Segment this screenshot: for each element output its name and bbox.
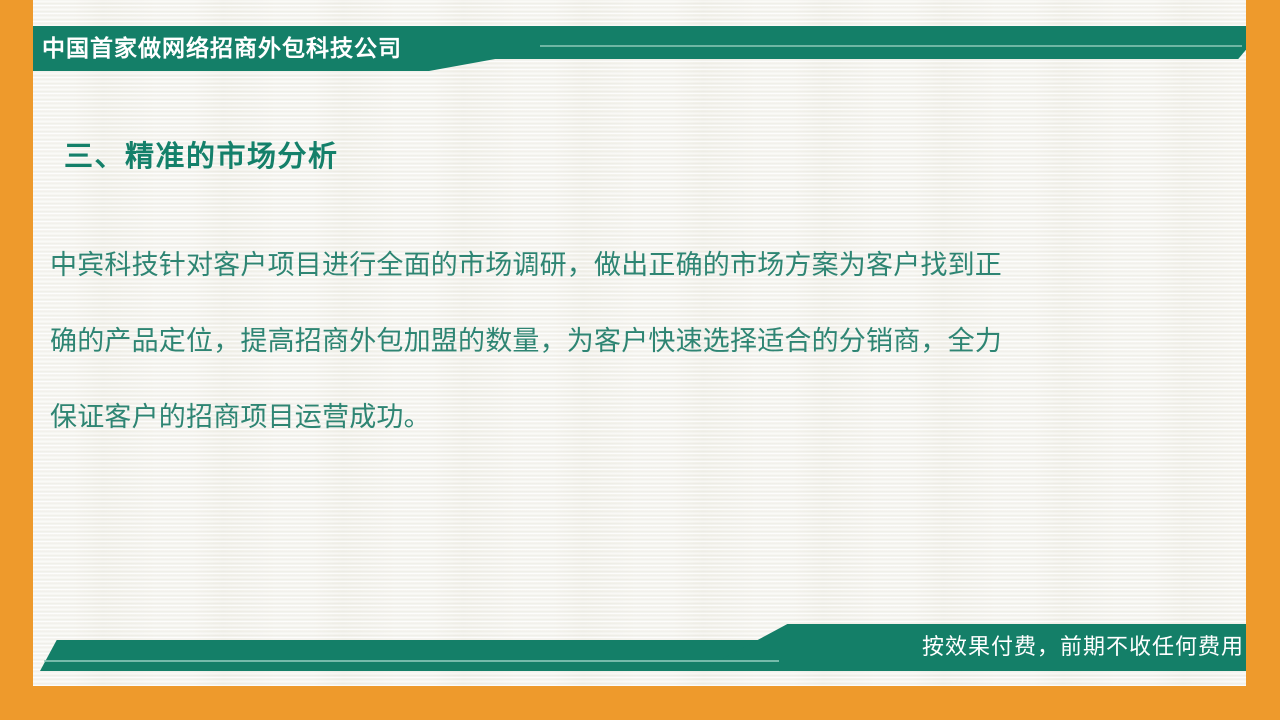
paragraph-line: 保证客户的招商项目运营成功。	[50, 380, 1186, 456]
body-paragraph: 中宾科技针对客户项目进行全面的市场调研，做出正确的市场方案为客户找到正 确的产品…	[50, 228, 1186, 456]
presentation-slide: 中国首家做网络招商外包科技公司 三、精准的市场分析 中宾科技针对客户项目进行全面…	[0, 0, 1280, 720]
page-title: 三、精准的市场分析	[64, 136, 339, 178]
paragraph-line: 中宾科技针对客户项目进行全面的市场调研，做出正确的市场方案为客户找到正	[50, 228, 1186, 304]
paragraph-line: 确的产品定位，提高招商外包加盟的数量，为客户快速选择适合的分销商，全力	[50, 304, 1186, 380]
